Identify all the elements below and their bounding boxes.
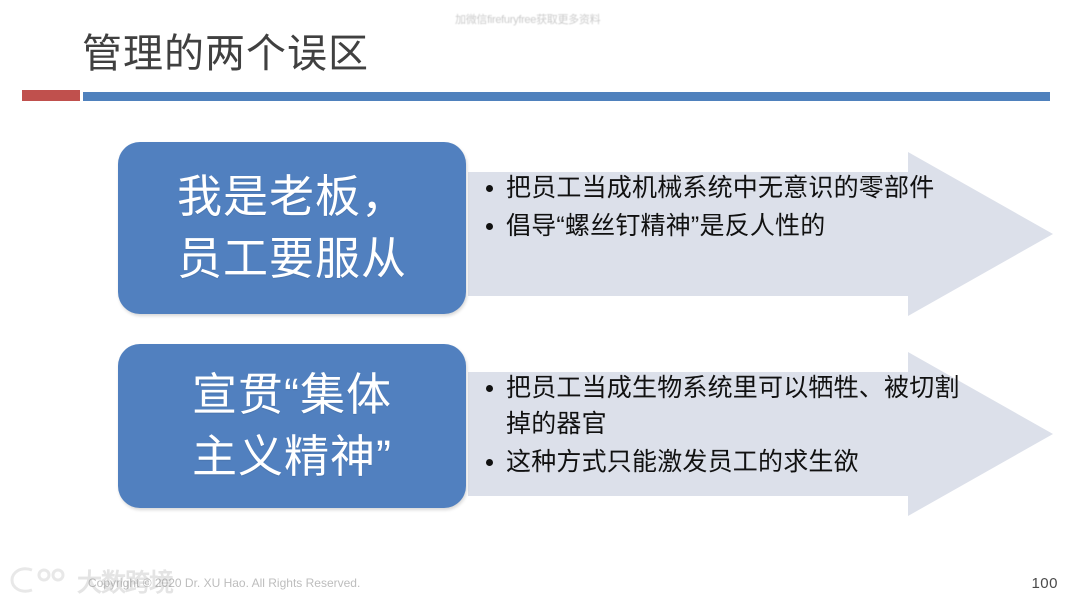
concept-box-line-1: 我是老板， — [177, 166, 407, 228]
bullet-list-row-1: 把员工当成机械系统中无意识的零部件 倡导“螺丝钉精神”是反人性的 — [484, 170, 954, 246]
page-title: 管理的两个误区 — [82, 28, 369, 80]
concept-box-row-1: 我是老板， 员工要服从 — [118, 142, 466, 314]
concept-box-line-1: 宣贯“集体 — [192, 364, 392, 426]
slide-canvas: 加微信firefuryfree获取更多资料 管理的两个误区 我是老板， 员工要服… — [0, 0, 1080, 607]
footer-logo-text: 大数跨境 — [77, 569, 173, 597]
concept-box-line-2: 员工要服从 — [177, 228, 407, 290]
bullet-list-row-2: 把员工当成生物系统里可以牺牲、被切割掉的器官 这种方式只能激发员工的求生欲 — [484, 370, 964, 482]
footer-logo-watermark: 大数跨境 — [10, 566, 173, 599]
page-number: 100 — [1031, 575, 1058, 593]
title-rule-blue — [83, 92, 1050, 101]
list-item: 倡导“螺丝钉精神”是反人性的 — [484, 208, 954, 244]
concept-box-line-2: 主义精神” — [192, 426, 392, 488]
list-item: 把员工当成机械系统中无意识的零部件 — [484, 170, 954, 206]
swirl-logo-icon — [10, 566, 72, 599]
title-rule-red — [22, 90, 80, 101]
list-item: 把员工当成生物系统里可以牺牲、被切割掉的器官 — [484, 370, 964, 442]
concept-box-row-2: 宣贯“集体 主义精神” — [118, 344, 466, 508]
top-watermark: 加微信firefuryfree获取更多资料 — [455, 13, 655, 27]
list-item: 这种方式只能激发员工的求生欲 — [484, 444, 964, 480]
